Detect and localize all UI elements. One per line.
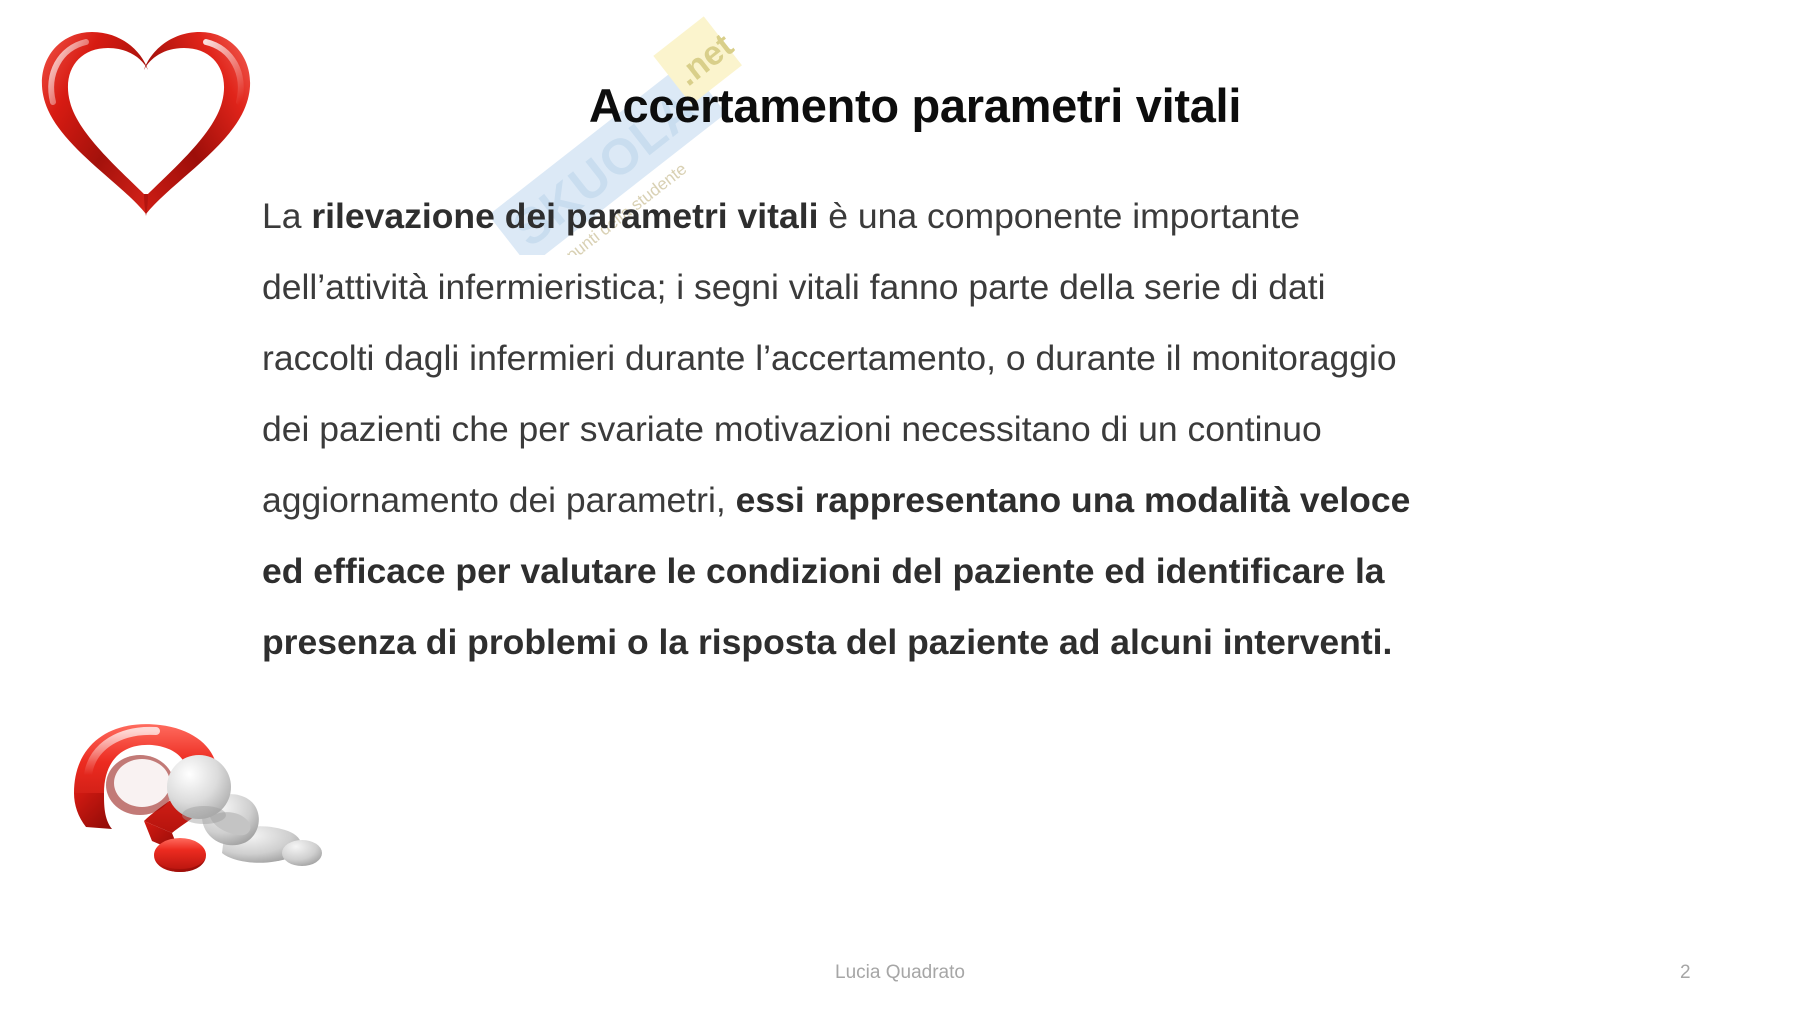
body-segment-0: La — [262, 196, 311, 236]
heart-icon — [26, 18, 266, 223]
body-segment-2: è una componente importante dell’attivit… — [262, 196, 1397, 520]
question-mark-icon — [52, 705, 352, 873]
body-paragraph: La rilevazione dei parametri vitali è un… — [262, 181, 1430, 678]
page-number: 2 — [1680, 962, 1740, 984]
page-title: Accertamento parametri vitali — [300, 78, 1530, 133]
slide-canvas: SKUOLA .net Appunti della studente — [0, 0, 1800, 1013]
body-segment-1: rilevazione dei parametri vitali — [311, 196, 818, 236]
footer-author: Lucia Quadrato — [0, 962, 1800, 984]
